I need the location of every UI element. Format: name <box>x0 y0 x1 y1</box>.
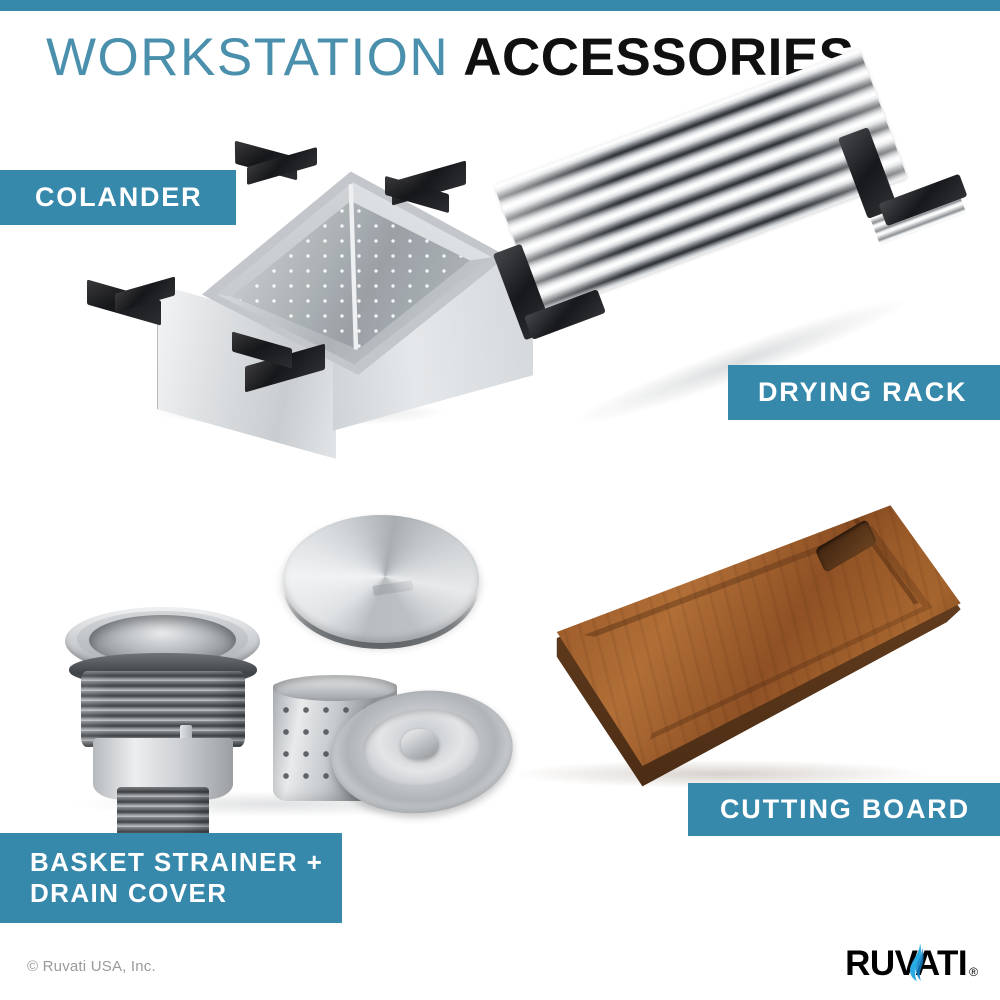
strainer-basket-lid-knob <box>401 729 439 759</box>
page-title-light: WORKSTATION <box>46 27 449 88</box>
drying-rack-rods <box>494 48 908 314</box>
infographic-page: WORKSTATIONACCESSORIES <box>0 0 1000 1000</box>
ruvati-registered-mark: ® <box>969 965 978 979</box>
cutting-board-seam <box>495 501 963 789</box>
drain-cover-disc <box>283 515 479 643</box>
label-cutting-board: CUTTING BOARD <box>688 783 1000 836</box>
label-drying-rack: DRYING RACK <box>728 365 1000 420</box>
label-basket-strainer-line1: BASKET STRAINER + <box>30 847 342 878</box>
basket-strainer-icon <box>55 495 515 835</box>
label-basket-strainer-line2: DRAIN COVER <box>30 878 342 909</box>
ruvati-water-flame-icon <box>907 942 927 982</box>
top-accent-bar <box>0 0 1000 11</box>
strainer-basket-rim <box>273 675 397 701</box>
copyright-text: © Ruvati USA, Inc. <box>27 958 156 975</box>
label-basket-strainer: BASKET STRAINER + DRAIN COVER <box>0 833 342 923</box>
page-title: WORKSTATIONACCESSORIES <box>46 27 855 88</box>
label-cutting-board-text: CUTTING BOARD <box>720 794 970 825</box>
label-drying-rack-text: DRYING RACK <box>758 377 967 408</box>
ruvati-logo: RUVATI ® <box>845 944 978 984</box>
drying-rack-sheen <box>494 48 908 314</box>
label-colander: COLANDER <box>0 170 236 225</box>
label-colander-text: COLANDER <box>35 182 202 213</box>
strainer-threaded-body <box>81 671 245 747</box>
